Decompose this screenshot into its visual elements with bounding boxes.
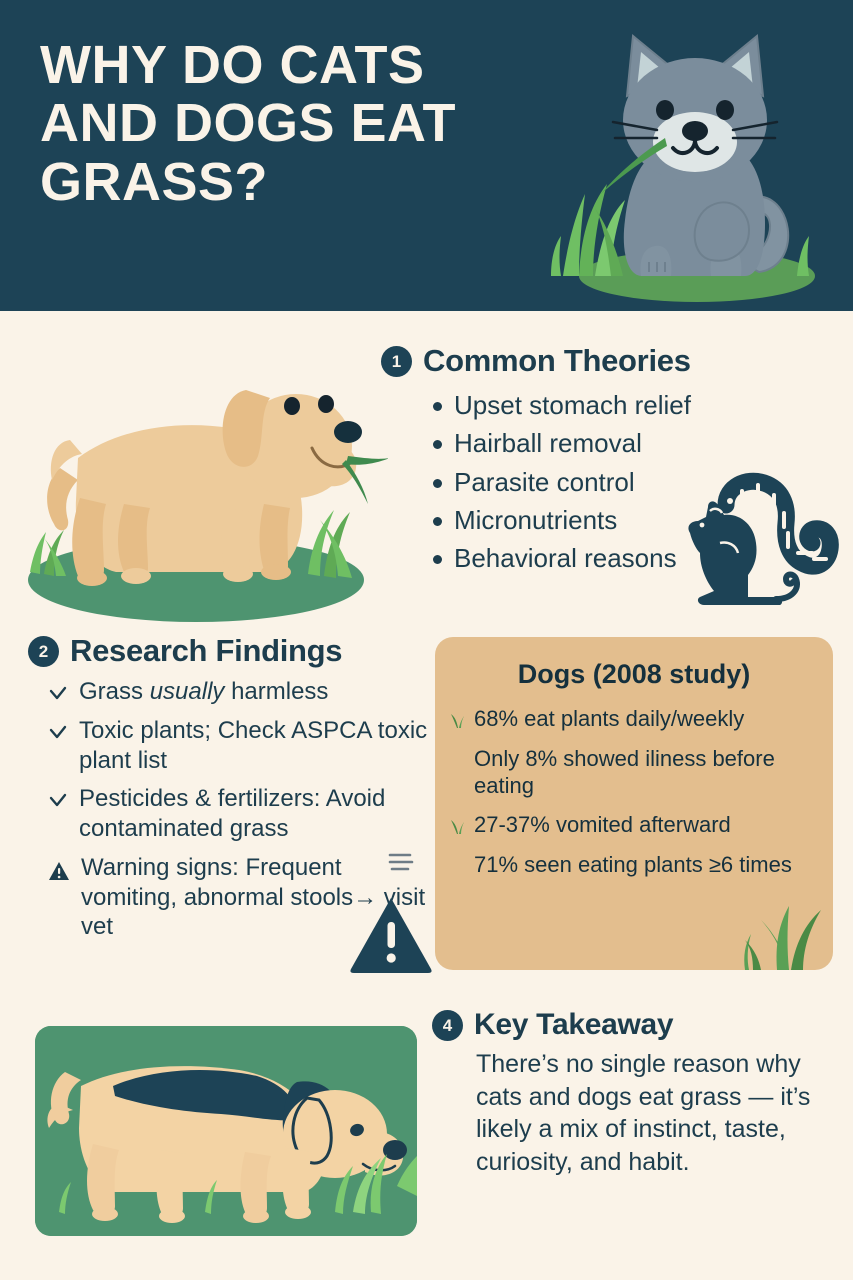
list-item: Only 8% showed iliness before eating [449,746,815,800]
sprout-icon [449,711,465,729]
check-icon [48,684,68,704]
dog-eating-grass-illustration [8,328,388,628]
sprout-icon [449,817,465,835]
takeaway-heading: 4 Key Takeaway [432,1008,832,1042]
warning-triangle-icon [348,895,434,975]
list-item: 27-37% vomited afterward [449,812,815,839]
dogs-stat-label: Only 8% showed iliness before eating [474,746,815,800]
research-heading: 2 Research Findings [28,633,428,669]
bullet-icon [433,402,442,411]
research-title: Research Findings [70,633,342,669]
dogs-stats-list: 68% eat plants daily/weekly Only 8% show… [435,706,833,879]
title-line-1: WHY DO CATS [40,36,560,94]
dogs-stat-label: 71% seen eating plants ≥6 times [474,852,792,879]
takeaway-title: Key Takeaway [474,1008,673,1042]
list-item: Grass usually harmless [48,677,428,707]
list-item: Toxic plants; Check ASPCA toxic plant li… [48,716,428,776]
theories-item-label: Upset stomach relief [454,389,691,422]
bullet-icon [433,440,442,449]
warning-icon [48,861,70,881]
section-number-badge: 2 [28,636,59,667]
title-line-3: GRASS? [40,153,560,211]
bullet-icon [433,479,442,488]
list-item: 68% eat plants daily/weekly [449,706,815,733]
dogs-study-card: Dogs (2008 study) 68% eat plants daily/w… [435,637,833,970]
check-icon [48,791,68,811]
infographic-page: WHY DO CATS AND DOGS EAT GRASS? [0,0,853,1280]
list-item: Hairball removal [433,427,851,460]
dogs-stat-label: 68% eat plants daily/weekly [474,706,744,733]
theories-item-label: Hairball removal [454,427,642,460]
section-number-badge: 4 [432,1010,463,1041]
list-item: Pesticides & fertilizers: Avoid contamin… [48,784,428,844]
takeaway-body: There’s no single reason why cats and do… [476,1048,832,1178]
research-item-label: Pesticides & fertilizers: Avoid contamin… [79,784,428,844]
grass-decoration-icon [388,849,418,875]
theories-title: Common Theories [423,343,691,379]
title-line-2: AND DOGS EAT [40,94,560,152]
check-icon [48,723,68,743]
dog-sniffing-grass-illustration [35,1026,417,1236]
grass-decoration-icon [717,886,827,970]
bullet-icon [433,555,442,564]
dogs-stat-label: 27-37% vomited afterward [474,812,731,839]
section-common-theories: 1 Common Theories Upset stomach relief H… [381,343,851,580]
research-item-label: Toxic plants; Check ASPCA toxic plant li… [79,716,428,776]
section-research-findings: 2 Research Findings Grass usually harmle… [28,633,428,951]
bullet-icon [433,517,442,526]
page-title: WHY DO CATS AND DOGS EAT GRASS? [40,36,560,211]
list-item: 71% seen eating plants ≥6 times [449,852,815,879]
list-item: Upset stomach relief [433,389,851,422]
header-band: WHY DO CATS AND DOGS EAT GRASS? [0,0,853,311]
theories-item-label: Micronutrients [454,504,617,537]
theories-item-label: Behavioral reasons [454,542,677,575]
section-number-badge: 1 [381,346,412,377]
theories-heading: 1 Common Theories [381,343,851,379]
cat-eating-grass-illustration [545,14,845,304]
section-key-takeaway: 4 Key Takeaway There’s no single reason … [432,1008,832,1178]
cat-and-worm-icon [684,471,853,611]
dogs-card-title: Dogs (2008 study) [435,659,833,690]
research-item-label: Grass usually harmless [79,677,428,707]
theories-item-label: Parasite control [454,466,635,499]
